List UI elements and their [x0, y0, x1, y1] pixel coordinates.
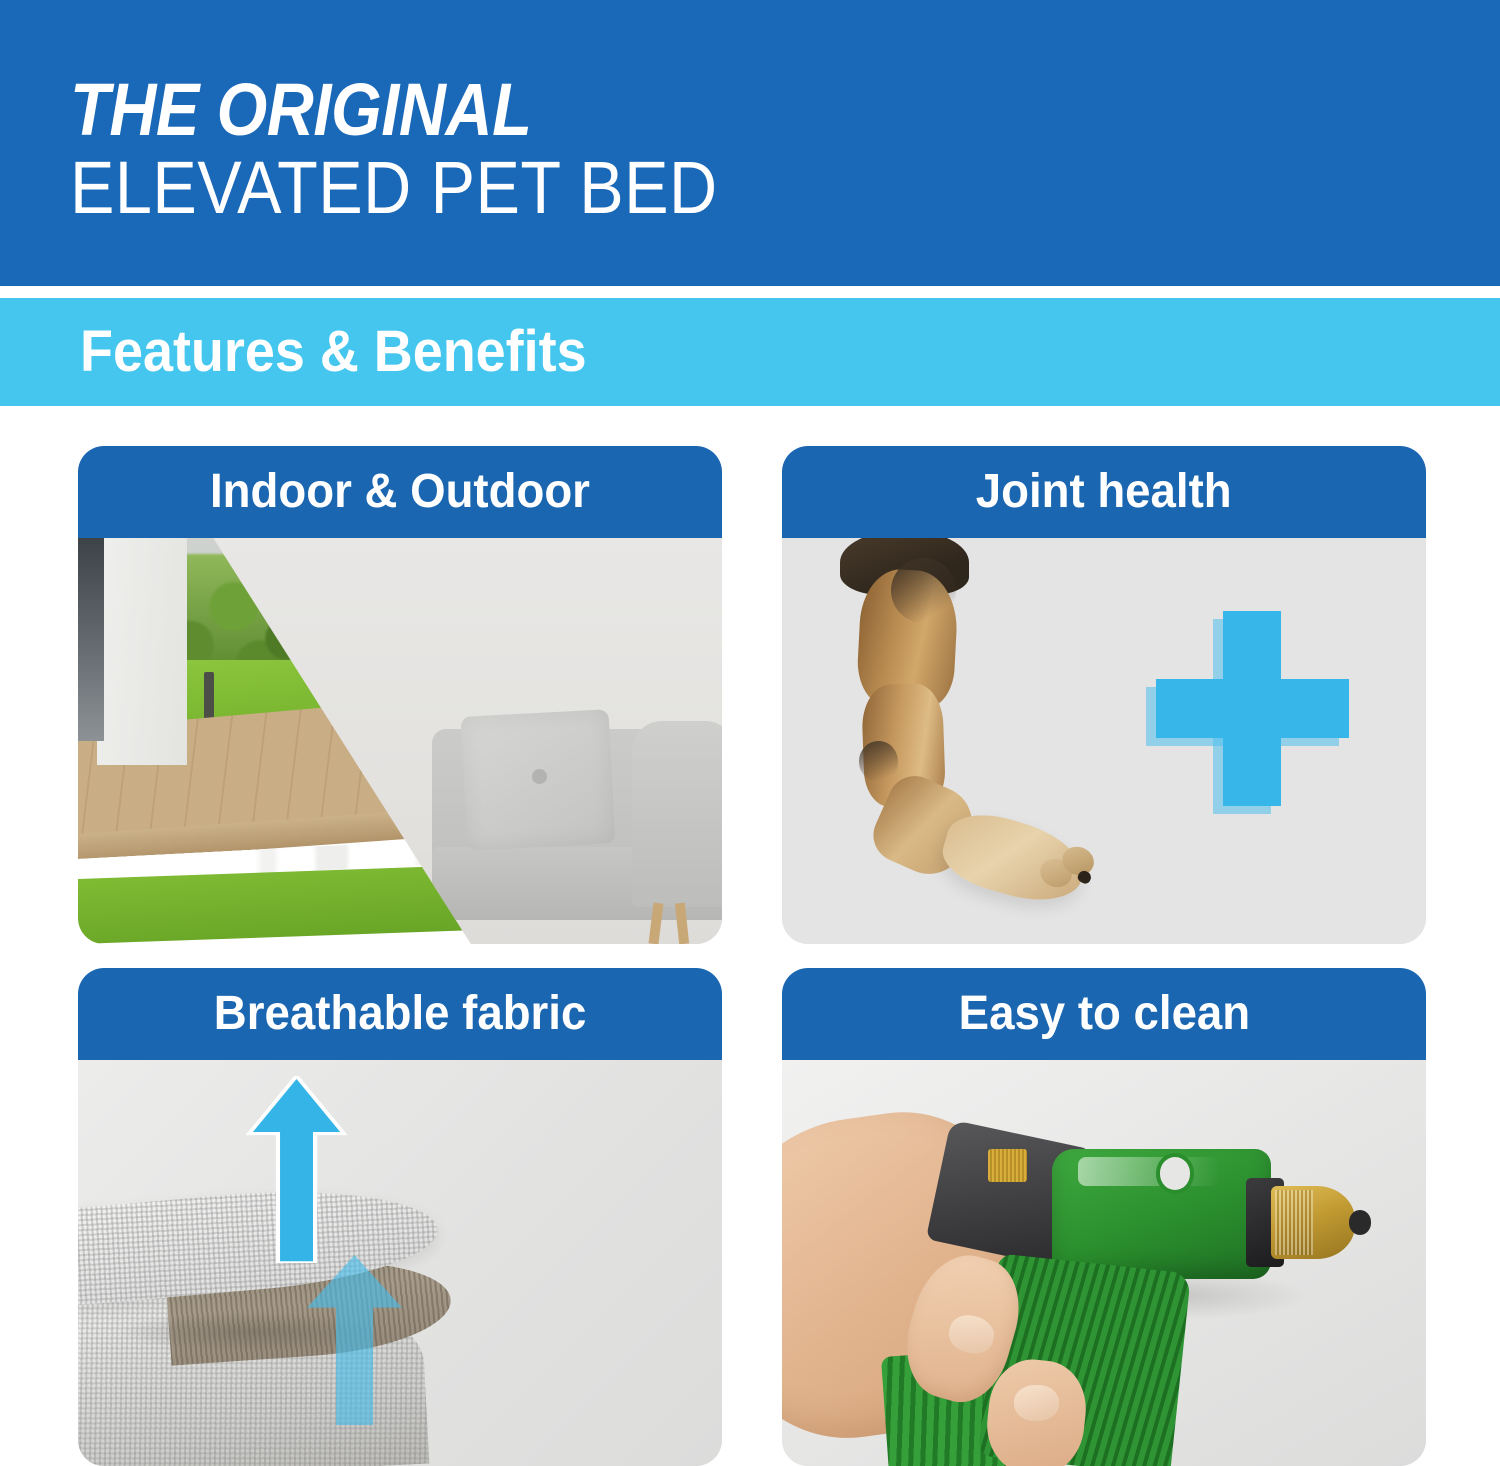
house-wall-column	[97, 538, 187, 765]
feature-card-joint-health: Joint health	[782, 446, 1426, 944]
hero-title-line-1: THE ORIGINAL	[70, 72, 1126, 148]
card-header-joint-health: Joint health	[782, 446, 1426, 538]
sofa-arm	[632, 721, 722, 908]
banner-divider	[0, 286, 1500, 298]
card-image-indoor-outdoor	[78, 538, 722, 944]
feature-card-easy-to-clean: Easy to clean	[782, 968, 1426, 1466]
feature-card-breathable-fabric: Breathable fabric	[78, 968, 722, 1466]
card-image-easy-to-clean	[782, 1060, 1426, 1466]
nozzle-body-highlight	[1078, 1157, 1220, 1185]
dog-leg-photo	[782, 538, 1426, 944]
card-header-easy-to-clean: Easy to clean	[782, 968, 1426, 1060]
glass-door	[78, 538, 104, 741]
card-title-joint-health: Joint health	[976, 465, 1232, 519]
brass-knurling	[1275, 1190, 1314, 1255]
dog-hock-shading	[859, 741, 898, 782]
card-title-indoor-outdoor: Indoor & Outdoor	[210, 465, 590, 519]
page-title: THE ORIGINAL ELEVATED PET BED	[70, 72, 1270, 228]
plus-bar-horizontal	[1156, 679, 1349, 737]
hose-nozzle-photo	[782, 1060, 1426, 1466]
mesh-fabric-photo	[78, 1060, 722, 1466]
card-header-indoor-outdoor: Indoor & Outdoor	[78, 446, 722, 538]
card-header-breathable-fabric: Breathable fabric	[78, 968, 722, 1060]
feature-card-grid: Indoor & Outdoor	[78, 446, 1426, 1446]
airflow-arrow-icon	[245, 1076, 348, 1263]
card-image-joint-health	[782, 538, 1426, 944]
hero-banner: THE ORIGINAL ELEVATED PET BED	[0, 0, 1500, 286]
card-image-breathable-fabric	[78, 1060, 722, 1466]
airflow-arrow-lower-icon	[303, 1255, 406, 1426]
brass-adjust-screw	[988, 1149, 1027, 1181]
feature-card-indoor-outdoor: Indoor & Outdoor	[78, 446, 722, 944]
card-title-easy-to-clean: Easy to clean	[958, 987, 1249, 1041]
index-finger-nail	[1014, 1385, 1059, 1422]
dog-thigh-shading	[891, 558, 955, 623]
nozzle-hang-loop	[1156, 1153, 1195, 1194]
indoor-outdoor-photo	[78, 538, 722, 944]
medical-plus-icon	[1156, 611, 1349, 806]
section-bar: Features & Benefits	[0, 298, 1500, 406]
hero-title-line-2: ELEVATED PET BED	[70, 148, 1150, 228]
card-title-breathable-fabric: Breathable fabric	[214, 987, 587, 1041]
nozzle-opening	[1349, 1210, 1372, 1234]
section-bar-label: Features & Benefits	[80, 318, 587, 386]
